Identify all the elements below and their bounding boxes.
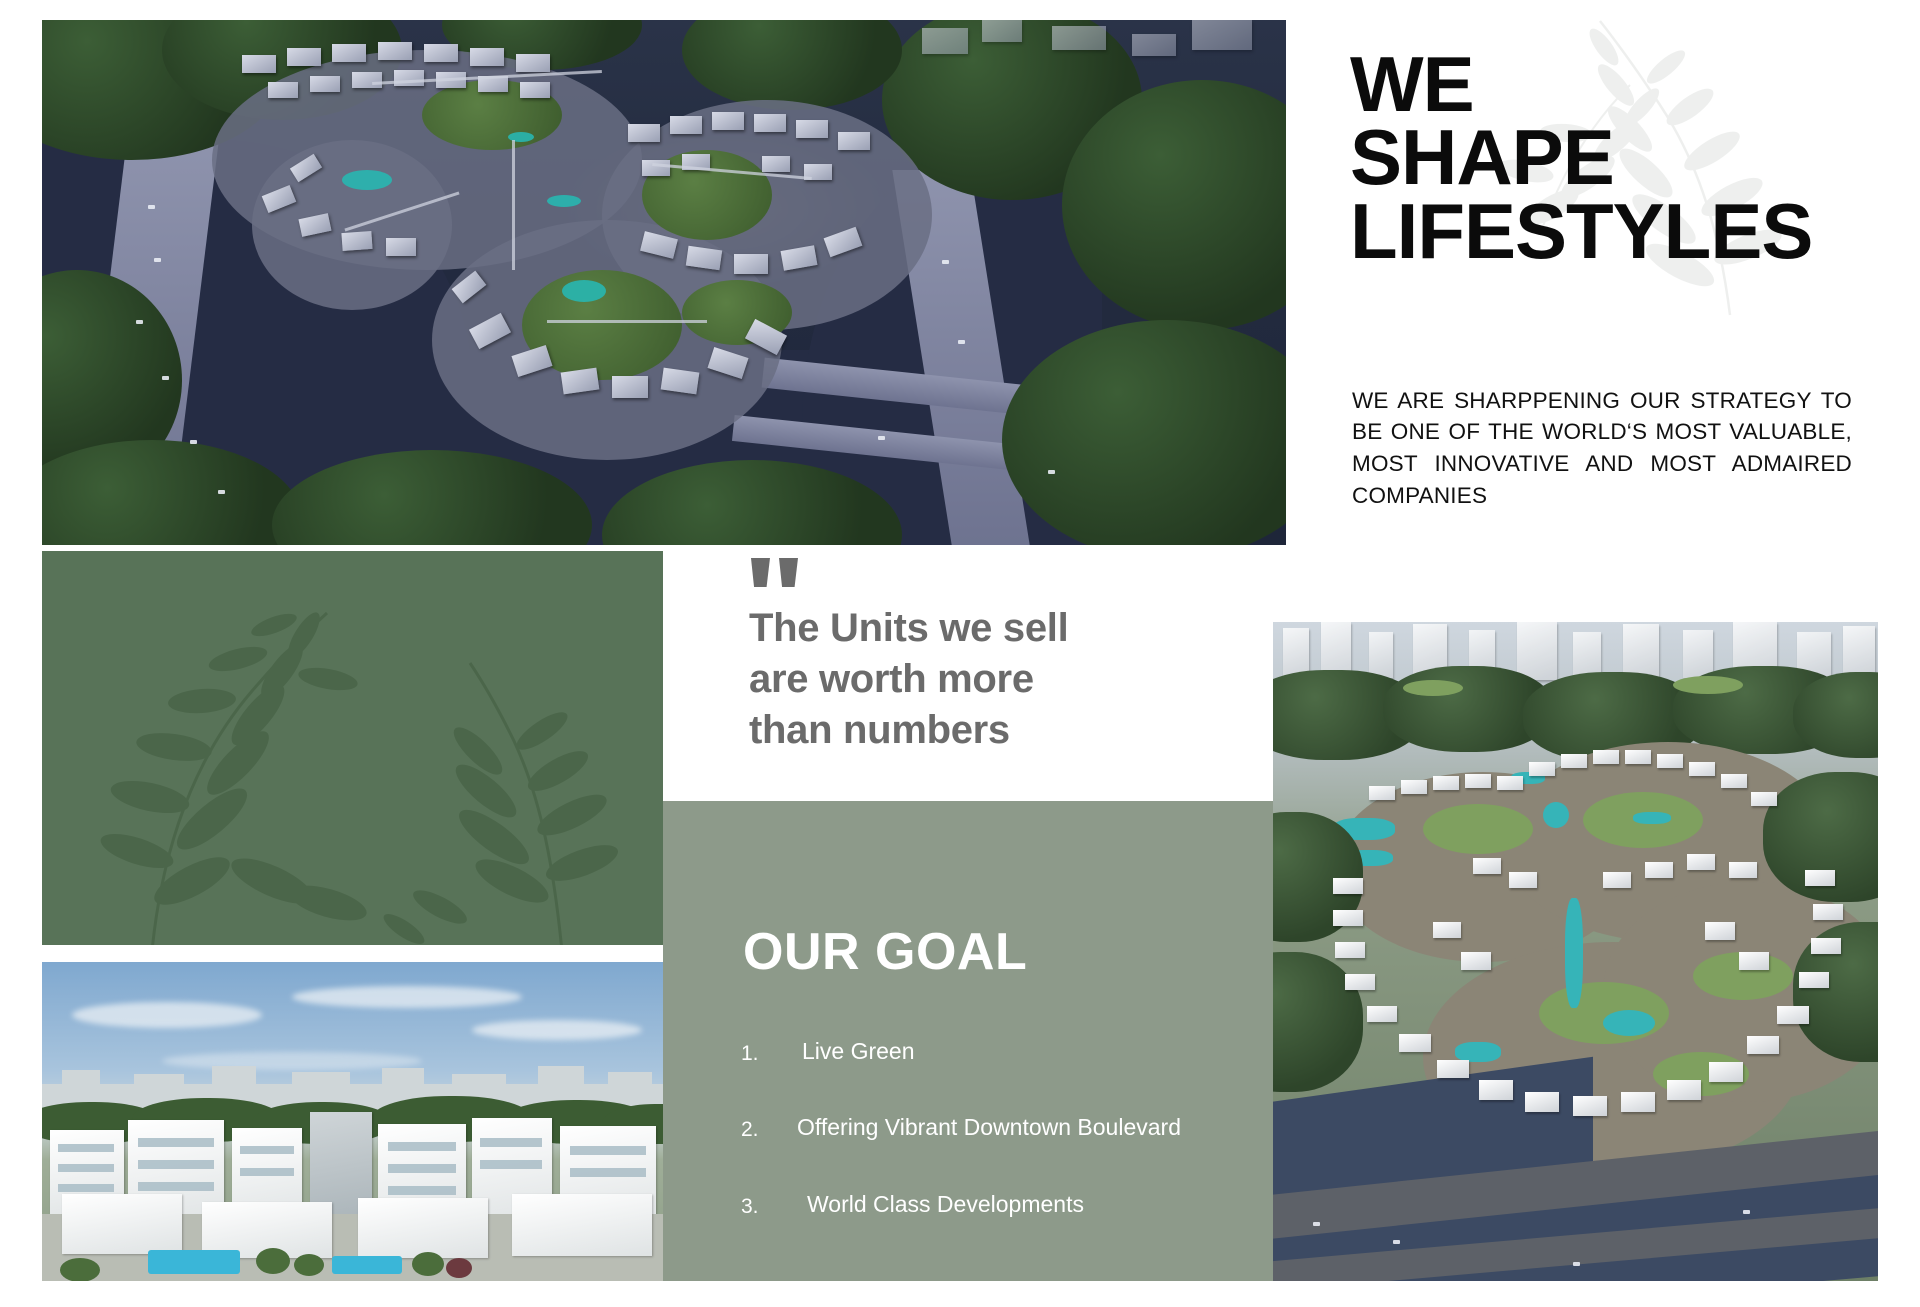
goal-item-number: 3. <box>741 1189 797 1221</box>
quote-panel: The Units we sell are worth more than nu… <box>663 545 1286 801</box>
goal-item-label: World Class Developments <box>797 1189 1241 1220</box>
goal-item-label: Offering Vibrant Downtown Boulevard <box>797 1112 1241 1143</box>
green-leaf-panel <box>42 551 663 945</box>
goal-list-item: 1. Live Green <box>741 1036 1241 1068</box>
aerial-masterplan-day-render <box>1273 622 1878 1281</box>
our-goal-list: 1. Live Green 2. Offering Vibrant Downto… <box>741 1036 1241 1265</box>
headline-block: WE SHAPE LIFESTYLES <box>1350 48 1910 278</box>
aerial-masterplan-night-render <box>42 20 1286 545</box>
quote-mark-icon <box>751 558 811 598</box>
goal-item-label: Live Green <box>797 1036 1241 1067</box>
page-title: WE SHAPE LIFESTYLES <box>1350 48 1910 268</box>
goal-item-number: 1. <box>741 1036 797 1068</box>
poster-canvas: The Units we sell are worth more than nu… <box>0 0 1920 1307</box>
our-goal-panel: OUR GOAL 1. Live Green 2. Offering Vibra… <box>663 801 1286 1281</box>
goal-item-number: 2. <box>741 1112 797 1144</box>
subcopy-paragraph: WE ARE SHARPPENING OUR STRATEGY TO BE ON… <box>1352 385 1852 513</box>
goal-list-item: 2. Offering Vibrant Downtown Boulevard <box>741 1112 1241 1144</box>
quote-text: The Units we sell are worth more than nu… <box>749 603 1219 755</box>
olive-branch-leaves-icon <box>42 551 663 945</box>
street-level-community-render <box>42 962 663 1281</box>
our-goal-title: OUR GOAL <box>743 922 1027 982</box>
goal-list-item: 3. World Class Developments <box>741 1189 1241 1221</box>
